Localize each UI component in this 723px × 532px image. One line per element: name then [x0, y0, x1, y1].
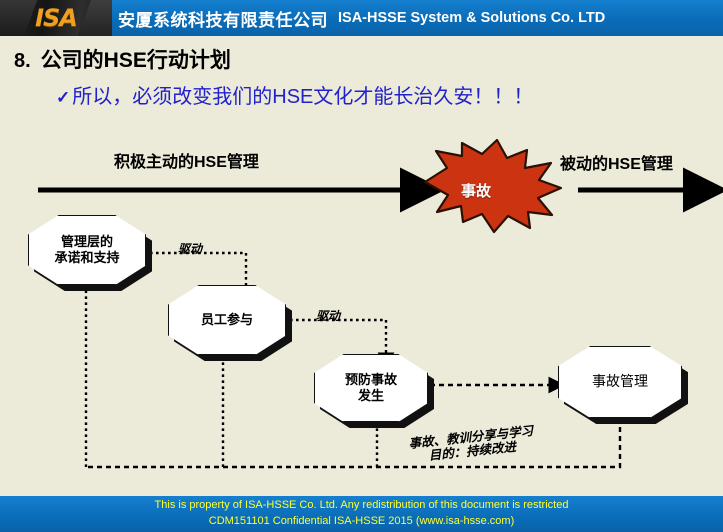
hse-action-plan-diagram: 积极主动的HSE管理 被动的HSE管理 事故 管理层的 承诺和支持 员工参与 预…: [0, 0, 723, 496]
node-accident-prevention[interactable]: 预防事故 发生: [314, 354, 428, 422]
node-management-commitment[interactable]: 管理层的 承诺和支持: [28, 215, 146, 285]
footer-bar: This is property of ISA-HSSE Co. Ltd. An…: [0, 496, 723, 532]
node-line-1: 预防事故: [345, 372, 397, 388]
node-employee-participation[interactable]: 员工参与: [168, 285, 286, 355]
connector-participation-to-prevention: [290, 320, 386, 356]
node-line-1: 事故管理: [592, 373, 648, 391]
proactive-arrow-label: 积极主动的HSE管理: [114, 148, 259, 172]
connector-label-drive-2: 驱动: [316, 307, 340, 324]
node-accident-management[interactable]: 事故管理: [558, 346, 682, 418]
reactive-arrow-label: 被动的HSE管理: [560, 150, 673, 174]
footer-line-1: This is property of ISA-HSSE Co. Ltd. An…: [155, 498, 569, 514]
connector-label-drive-1: 驱动: [178, 240, 202, 257]
footer-line-2: CDM151101 Confidential ISA-HSSE 2015 (ww…: [209, 514, 514, 530]
node-line-2: 承诺和支持: [54, 250, 119, 266]
accident-burst-icon: [425, 140, 561, 232]
node-line-1: 员工参与: [201, 312, 253, 328]
connector-commitment-to-participation: [150, 253, 246, 290]
node-line-2: 发生: [345, 388, 397, 404]
node-line-1: 管理层的: [54, 234, 119, 250]
burst-label: 事故: [461, 180, 491, 201]
